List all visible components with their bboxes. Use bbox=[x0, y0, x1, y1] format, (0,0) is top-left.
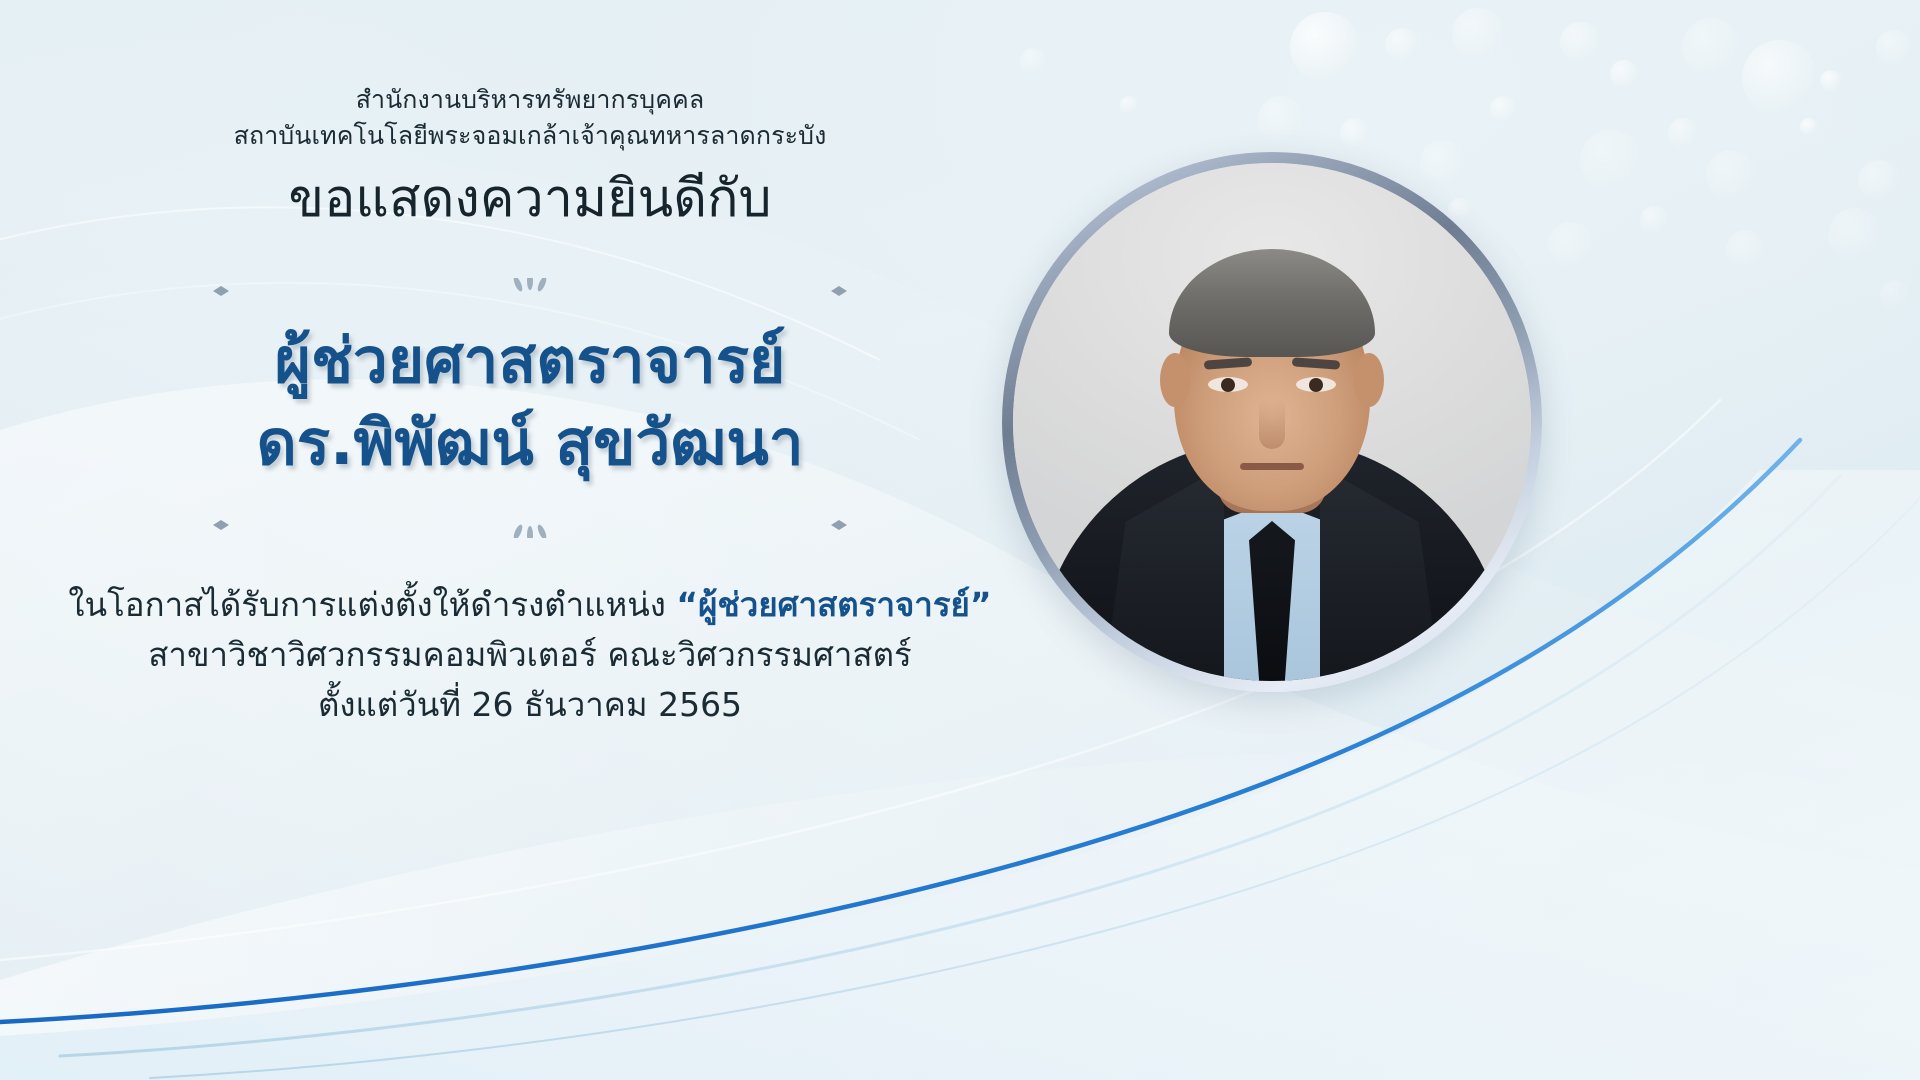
mouth bbox=[1240, 463, 1304, 470]
honoree-name: ดร.พิพัฒน์ สุขวัฒนา bbox=[0, 402, 1060, 484]
department-line: สาขาวิชาวิศวกรรมคอมพิวเตอร์ คณะวิศวกรรมศ… bbox=[0, 630, 1060, 680]
eye-right bbox=[1296, 377, 1336, 392]
appointment-details: ในโอกาสได้รับการแต่งตั้งให้ดำรงตำแหน่ง “… bbox=[0, 580, 1060, 730]
occasion-prefix: ในโอกาสได้รับการแต่งตั้งให้ดำรงตำแหน่ง bbox=[68, 585, 665, 624]
announcement-content: สำนักงานบริหารทรัพยากรบุคคล สถาบันเทคโนโ… bbox=[0, 0, 1060, 1080]
honoree-name-block: ผู้ช่วยศาสตราจารย์ ดร.พิพัฒน์ สุขวัฒนา bbox=[0, 320, 1060, 484]
congratulation-banner: สำนักงานบริหารทรัพยากรบุคคล สถาบันเทคโนโ… bbox=[0, 0, 1920, 1080]
hair bbox=[1169, 249, 1375, 357]
portrait-frame bbox=[1002, 152, 1542, 692]
organization-line-1: สำนักงานบริหารทรัพยากรบุคคล bbox=[0, 82, 1060, 118]
occasion-line: ในโอกาสได้รับการแต่งตั้งให้ดำรงตำแหน่ง “… bbox=[0, 580, 1060, 630]
organization-line-2: สถาบันเทคโนโลยีพระจอมเกล้าเจ้าคุณทหารลาด… bbox=[0, 118, 1060, 154]
position-quoted: “ผู้ช่วยศาสตราจารย์” bbox=[676, 585, 991, 624]
honoree-title: ผู้ช่วยศาสตราจารย์ bbox=[0, 320, 1060, 402]
ear-right bbox=[1354, 353, 1384, 407]
headline-congratulations: ขอแสดงความยินดีกับ bbox=[0, 168, 1060, 230]
effective-date-line: ตั้งแต่วันที่ 26 ธันวาคม 2565 bbox=[0, 680, 1060, 730]
organization-header: สำนักงานบริหารทรัพยากรบุคคล สถาบันเทคโนโ… bbox=[0, 82, 1060, 155]
divider-bottom bbox=[205, 512, 855, 538]
portrait-photo bbox=[1013, 163, 1531, 681]
ear-left bbox=[1160, 353, 1190, 407]
divider-top bbox=[205, 278, 855, 304]
photo-backdrop bbox=[1013, 163, 1531, 681]
nose bbox=[1259, 399, 1285, 449]
eye-left bbox=[1208, 377, 1248, 392]
